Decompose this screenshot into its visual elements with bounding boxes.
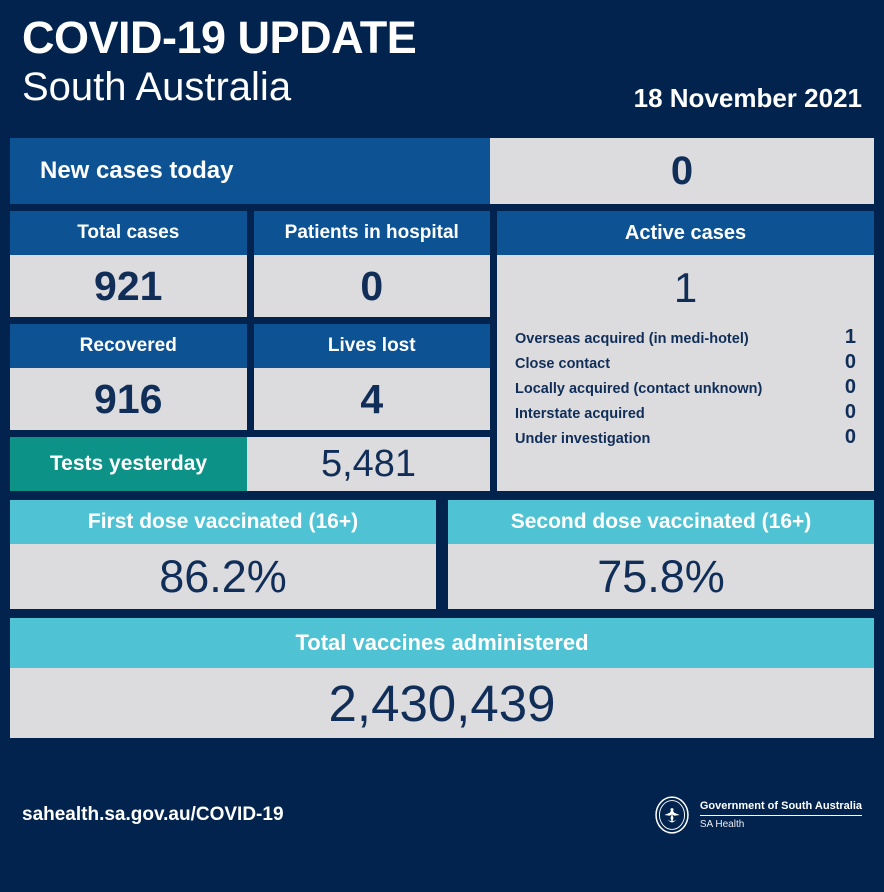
footer-url[interactable]: sahealth.sa.gov.au/COVID-19 xyxy=(22,804,284,826)
new-cases-value: 0 xyxy=(490,138,874,204)
active-cases-label: Active cases xyxy=(497,211,874,255)
total-vaccines-card: Total vaccines administered 2,430,439 xyxy=(0,618,884,738)
covid-update-infographic: COVID-19 UPDATE South Australia 18 Novem… xyxy=(0,0,884,892)
active-cases-card: Active cases 1 Overseas acquired (in med… xyxy=(497,211,874,491)
patients-in-hospital-label: Patients in hospital xyxy=(254,211,491,255)
breakdown-value: 1 xyxy=(845,327,856,347)
recovered-card: Recovered 916 xyxy=(10,324,247,430)
lives-lost-card: Lives lost 4 xyxy=(254,324,491,430)
breakdown-value: 0 xyxy=(845,427,856,447)
breakdown-value: 0 xyxy=(845,377,856,397)
tests-yesterday-value: 5,481 xyxy=(247,437,490,491)
active-cases-value: 1 xyxy=(515,255,856,325)
page-title: COVID-19 UPDATE xyxy=(22,14,884,63)
department-label: SA Health xyxy=(700,819,862,830)
patients-in-hospital-value: 0 xyxy=(254,255,491,317)
tests-yesterday-label: Tests yesterday xyxy=(10,437,247,491)
total-vaccines-label: Total vaccines administered xyxy=(10,618,874,668)
stats-row-2: Recovered 916 Lives lost 4 xyxy=(10,324,490,430)
second-dose-label: Second dose vaccinated (16+) xyxy=(448,500,874,544)
breakdown-label: Close contact xyxy=(515,356,610,372)
tests-yesterday-card: Tests yesterday 5,481 xyxy=(10,437,490,491)
total-cases-card: Total cases 921 xyxy=(10,211,247,317)
recovered-value: 916 xyxy=(10,368,247,430)
report-date: 18 November 2021 xyxy=(634,83,862,114)
footer: sahealth.sa.gov.au/COVID-19 Government o… xyxy=(0,738,884,892)
new-cases-label: New cases today xyxy=(10,138,490,204)
south-australia-crest-icon xyxy=(653,796,691,834)
patients-in-hospital-card: Patients in hospital 0 xyxy=(254,211,491,317)
total-cases-value: 921 xyxy=(10,255,247,317)
first-dose-label: First dose vaccinated (16+) xyxy=(10,500,436,544)
active-cases-breakdown: Overseas acquired (in medi-hotel) 1 Clos… xyxy=(515,325,856,449)
header: COVID-19 UPDATE South Australia 18 Novem… xyxy=(0,0,884,138)
government-label: Government of South Australia xyxy=(700,800,862,816)
stats-grid: Total cases 921 Patients in hospital 0 R… xyxy=(10,211,874,491)
stats-section: New cases today 0 Total cases 921 Patien… xyxy=(0,138,884,491)
active-cases-body: 1 Overseas acquired (in medi-hotel) 1 Cl… xyxy=(497,255,874,491)
breakdown-row: Overseas acquired (in medi-hotel) 1 xyxy=(515,325,856,349)
breakdown-row: Close contact 0 xyxy=(515,350,856,374)
breakdown-row: Under investigation 0 xyxy=(515,425,856,449)
breakdown-row: Locally acquired (contact unknown) 0 xyxy=(515,375,856,399)
breakdown-value: 0 xyxy=(845,402,856,422)
total-vaccines-value: 2,430,439 xyxy=(10,668,874,738)
breakdown-label: Under investigation xyxy=(515,431,650,447)
first-dose-card: First dose vaccinated (16+) 86.2% xyxy=(10,500,436,609)
first-dose-value: 86.2% xyxy=(10,544,436,609)
primary-stats-column: Total cases 921 Patients in hospital 0 R… xyxy=(10,211,490,491)
breakdown-label: Interstate acquired xyxy=(515,406,645,422)
breakdown-row: Interstate acquired 0 xyxy=(515,400,856,424)
lives-lost-label: Lives lost xyxy=(254,324,491,368)
stats-row-1: Total cases 921 Patients in hospital 0 xyxy=(10,211,490,317)
brand-text: Government of South Australia SA Health xyxy=(700,800,862,830)
recovered-label: Recovered xyxy=(10,324,247,368)
total-cases-label: Total cases xyxy=(10,211,247,255)
breakdown-label: Overseas acquired (in medi-hotel) xyxy=(515,331,749,347)
breakdown-label: Locally acquired (contact unknown) xyxy=(515,381,762,397)
second-dose-value: 75.8% xyxy=(448,544,874,609)
lives-lost-value: 4 xyxy=(254,368,491,430)
breakdown-value: 0 xyxy=(845,352,856,372)
new-cases-card: New cases today 0 xyxy=(10,138,874,204)
vaccination-section: First dose vaccinated (16+) 86.2% Second… xyxy=(0,500,884,609)
sa-health-branding: Government of South Australia SA Health xyxy=(653,796,862,834)
second-dose-card: Second dose vaccinated (16+) 75.8% xyxy=(448,500,874,609)
